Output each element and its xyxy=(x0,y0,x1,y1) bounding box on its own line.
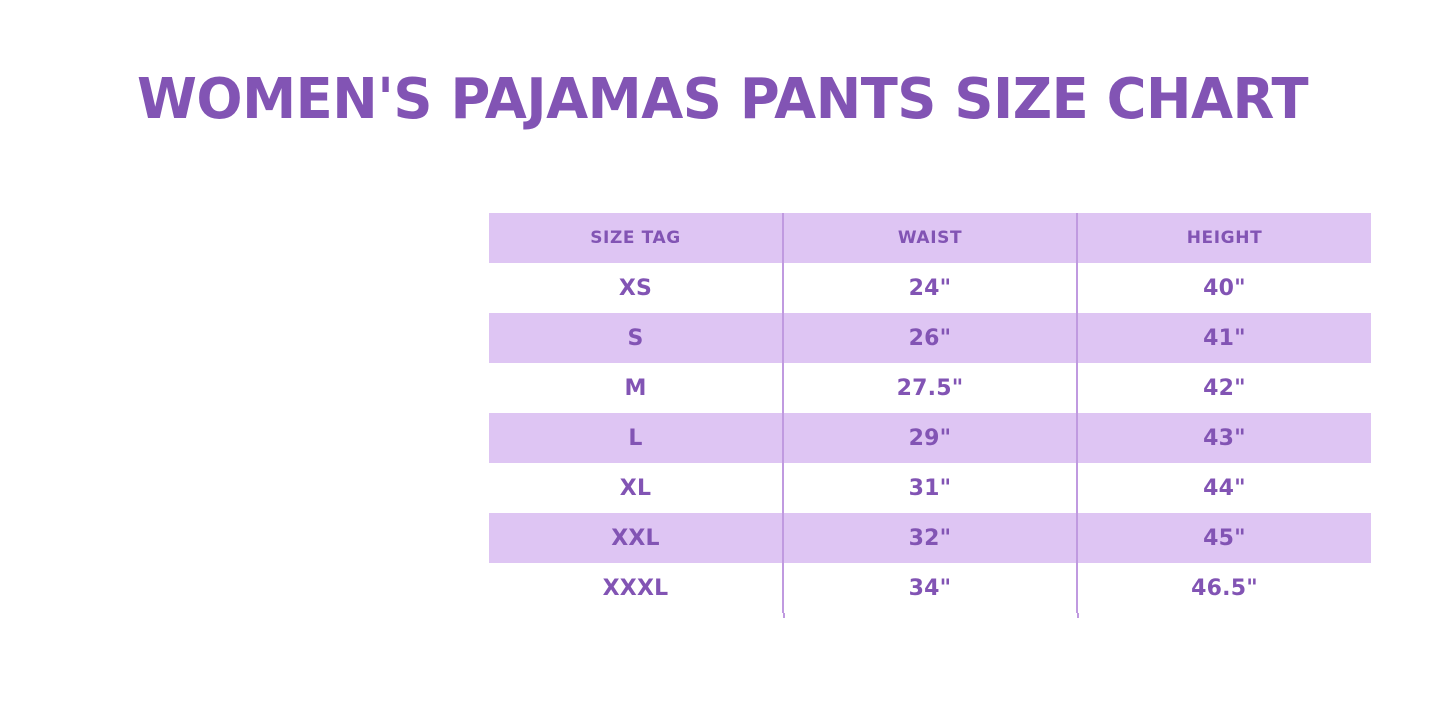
size-chart-table: SIZE TAG WAIST HEIGHT XS 24" 40" S 26" 4… xyxy=(489,213,1371,613)
table-row: XL 31" 44" xyxy=(489,463,1371,513)
cell-waist: 31" xyxy=(783,463,1077,513)
cell-height: 41" xyxy=(1077,313,1371,363)
cell-size-tag: XXXL xyxy=(489,563,783,613)
table-row: M 27.5" 42" xyxy=(489,363,1371,413)
cell-size-tag: S xyxy=(489,313,783,363)
size-chart-table-container: SIZE TAG WAIST HEIGHT XS 24" 40" S 26" 4… xyxy=(489,213,1371,613)
cell-size-tag: XS xyxy=(489,263,783,313)
table-header-row: SIZE TAG WAIST HEIGHT xyxy=(489,213,1371,263)
cell-waist: 24" xyxy=(783,263,1077,313)
cell-height: 42" xyxy=(1077,363,1371,413)
page-title: WOMEN'S PAJAMAS PANTS SIZE CHART xyxy=(22,66,1424,134)
cell-waist: 32" xyxy=(783,513,1077,563)
table-row: XS 24" 40" xyxy=(489,263,1371,313)
column-divider-tail-height xyxy=(1077,613,1079,618)
table-row: S 26" 41" xyxy=(489,313,1371,363)
column-header-size-tag: SIZE TAG xyxy=(489,213,783,263)
cell-height: 44" xyxy=(1077,463,1371,513)
cell-height: 45" xyxy=(1077,513,1371,563)
column-header-height: HEIGHT xyxy=(1077,213,1371,263)
cell-height: 43" xyxy=(1077,413,1371,463)
cell-size-tag: XXL xyxy=(489,513,783,563)
cell-height: 40" xyxy=(1077,263,1371,313)
cell-size-tag: XL xyxy=(489,463,783,513)
column-divider-tail-waist xyxy=(783,613,785,618)
table-row: L 29" 43" xyxy=(489,413,1371,463)
cell-waist: 26" xyxy=(783,313,1077,363)
table-row: XXL 32" 45" xyxy=(489,513,1371,563)
size-chart-page: WOMEN'S PAJAMAS PANTS SIZE CHART SIZE TA… xyxy=(0,0,1445,723)
cell-waist: 29" xyxy=(783,413,1077,463)
cell-waist: 34" xyxy=(783,563,1077,613)
cell-size-tag: M xyxy=(489,363,783,413)
cell-waist: 27.5" xyxy=(783,363,1077,413)
table-row: XXXL 34" 46.5" xyxy=(489,563,1371,613)
cell-height: 46.5" xyxy=(1077,563,1371,613)
cell-size-tag: L xyxy=(489,413,783,463)
column-header-waist: WAIST xyxy=(783,213,1077,263)
